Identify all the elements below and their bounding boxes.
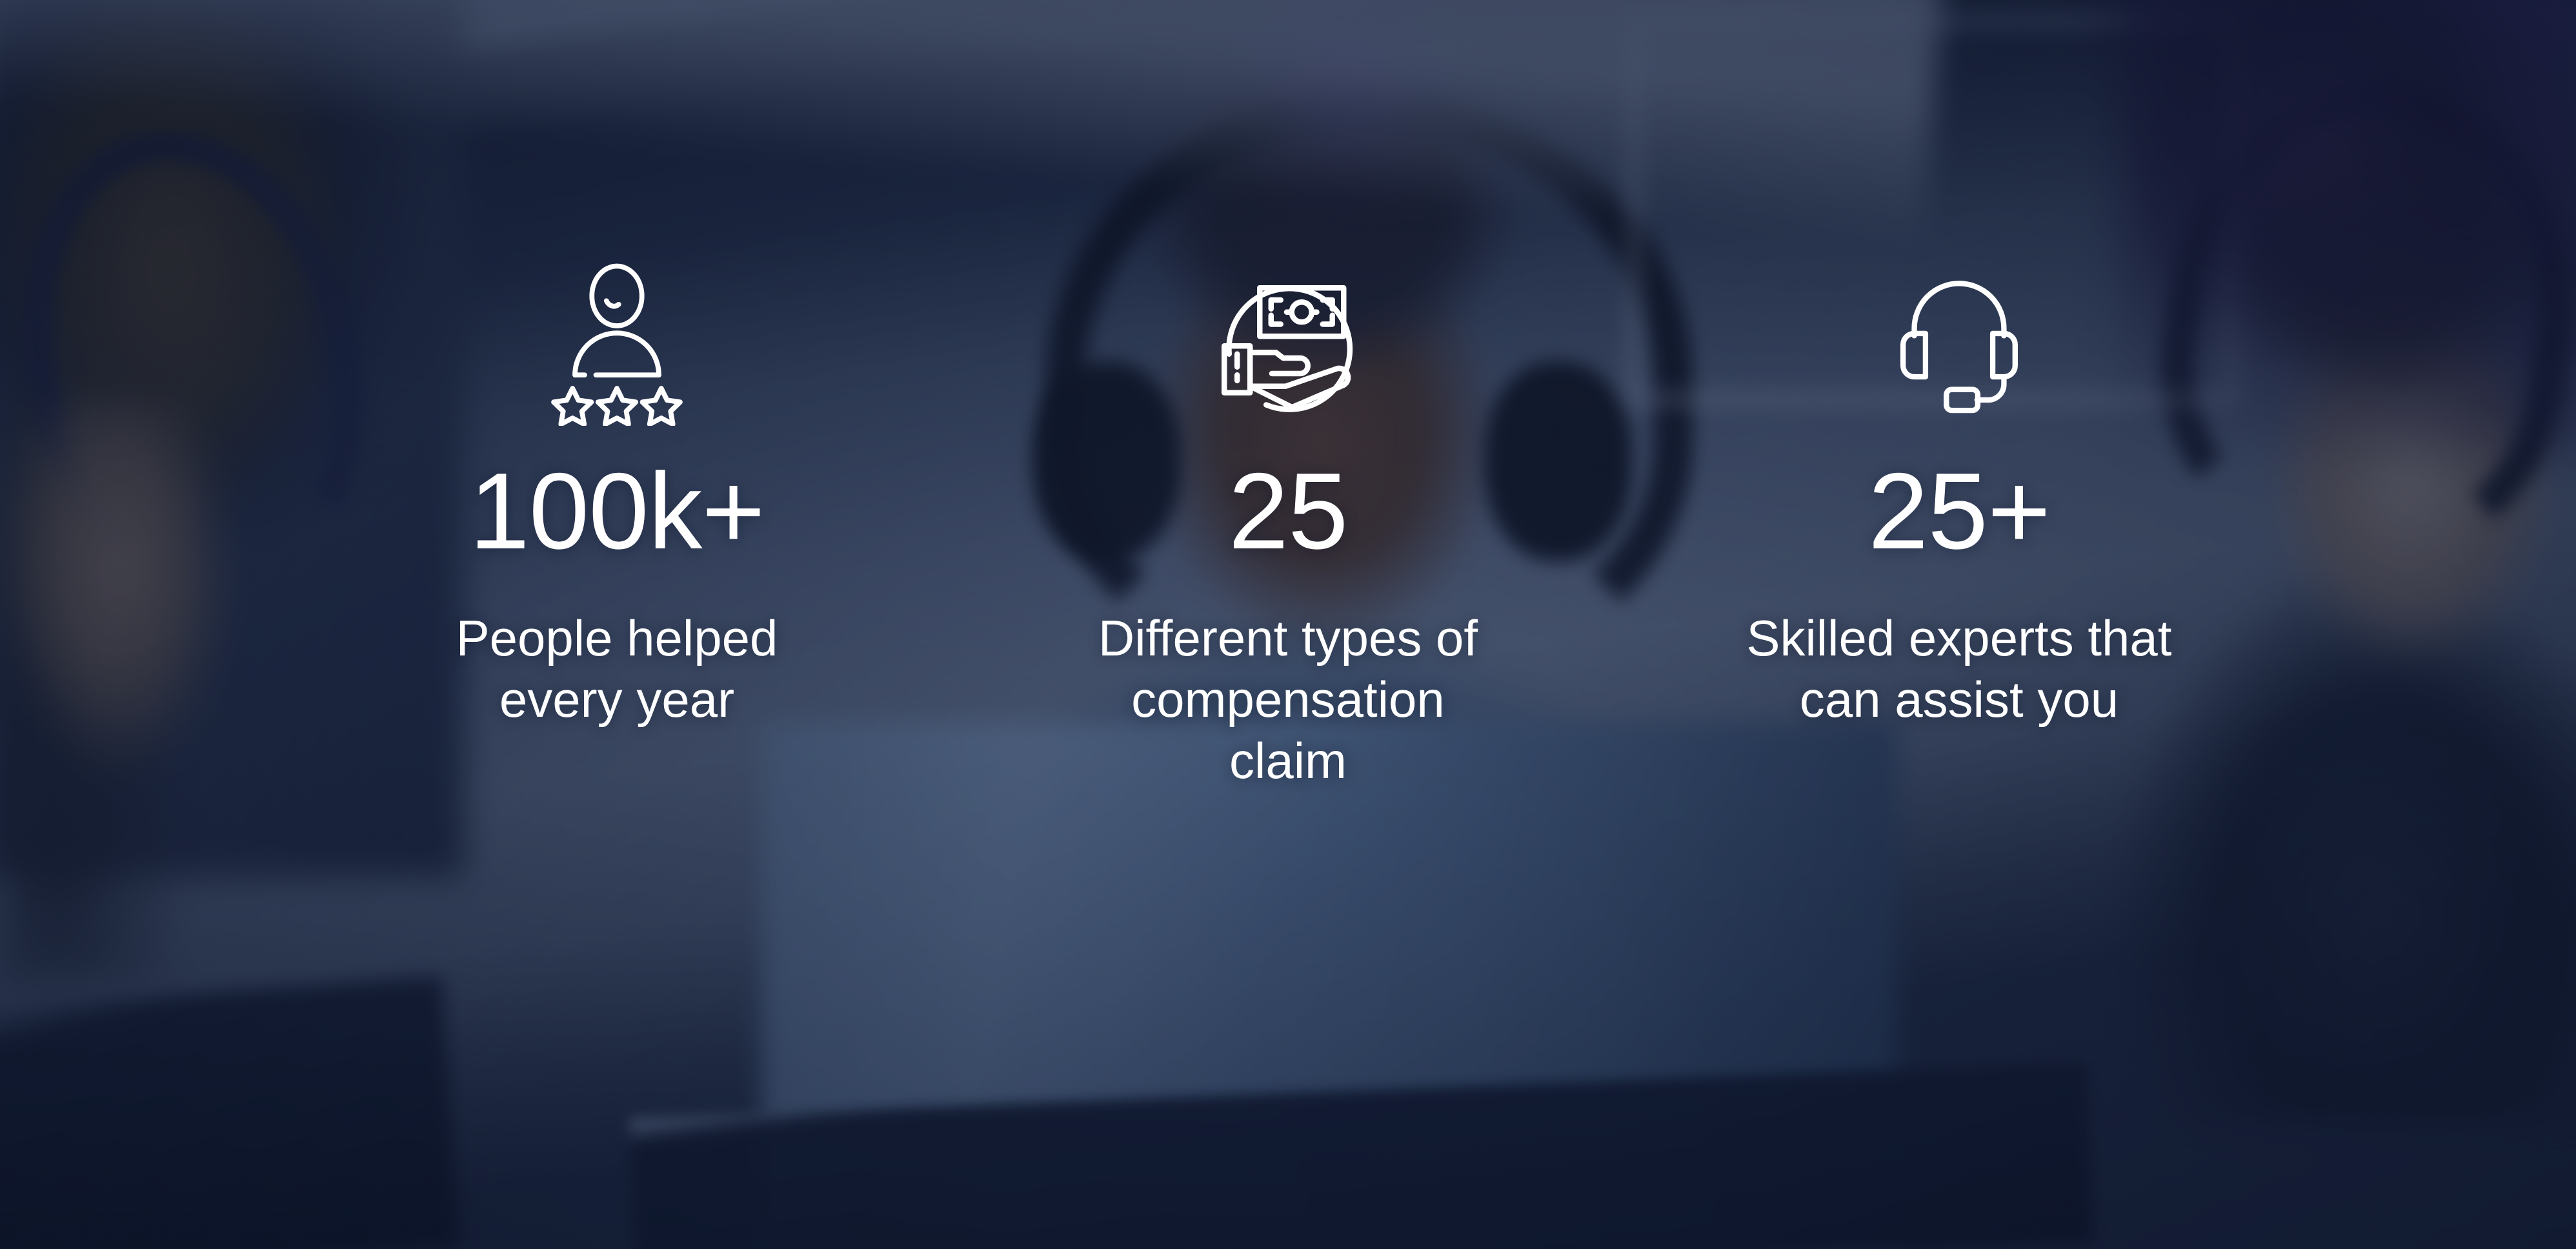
stat-label-line: can assist you	[1746, 669, 2171, 730]
stat-value: 25+	[1868, 457, 2050, 565]
stats-row: 100k+ People helped every year	[0, 0, 2576, 1249]
person-rating-stars-icon	[530, 239, 704, 439]
stat-label-line: every year	[456, 669, 778, 730]
stat-label-line: claim	[1098, 730, 1478, 792]
stat-label-line: People helped	[456, 608, 778, 669]
headset-support-icon	[1878, 239, 2040, 439]
stat-label: People helped every year	[456, 608, 778, 730]
stat-label-line: compensation	[1098, 669, 1478, 730]
stat-label-line: Different types of	[1098, 608, 1478, 669]
stat-item-people-helped: 100k+ People helped every year	[281, 239, 952, 730]
money-in-hand-circle-icon	[1201, 239, 1375, 439]
stat-item-skilled-experts: 25+ Skilled experts that can assist you	[1624, 239, 2295, 730]
stat-value: 25	[1229, 457, 1348, 565]
stat-item-claim-types: 25 Different types of compensation claim	[952, 239, 1624, 792]
stat-label: Skilled experts that can assist you	[1746, 608, 2171, 730]
stat-label-line: Skilled experts that	[1746, 608, 2171, 669]
stat-value: 100k+	[469, 457, 764, 565]
stat-label: Different types of compensation claim	[1098, 608, 1478, 792]
stats-banner: 100k+ People helped every year	[0, 0, 2576, 1249]
